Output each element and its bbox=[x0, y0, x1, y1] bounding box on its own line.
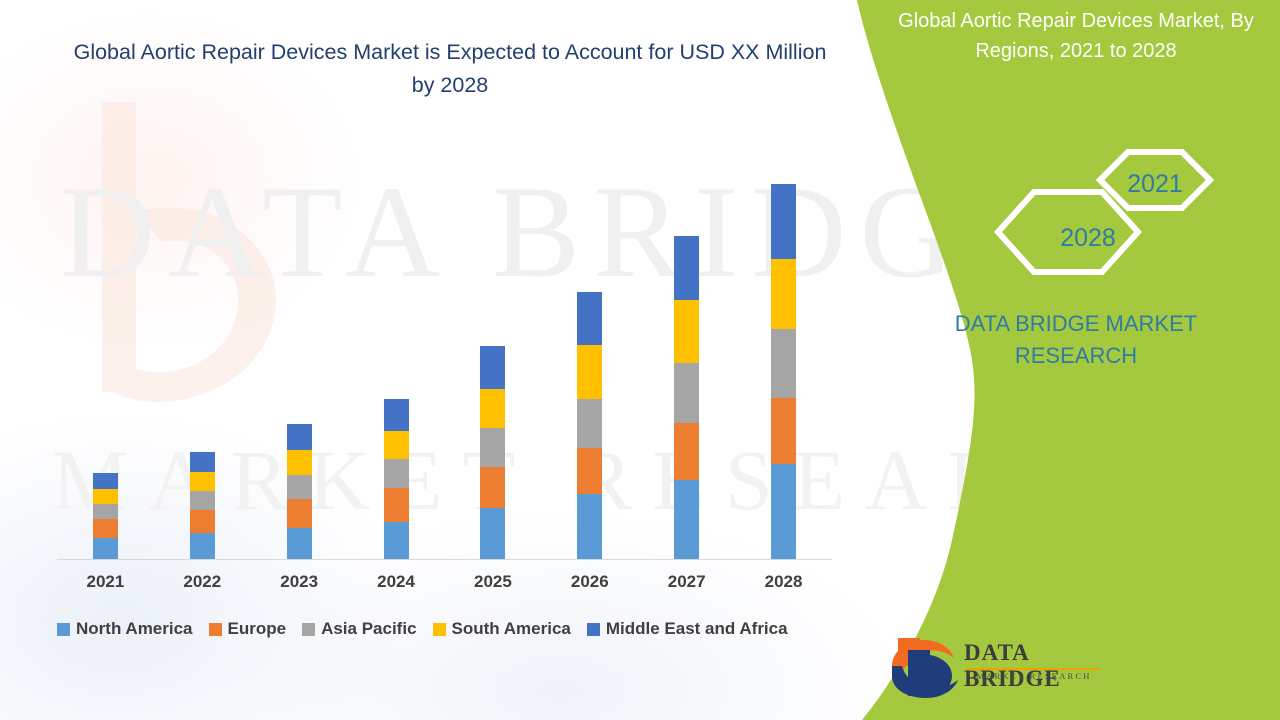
bar-segment[interactable] bbox=[384, 399, 409, 431]
panel-title: Global Aortic Repair Devices Market, By … bbox=[882, 6, 1270, 66]
bar-segment[interactable] bbox=[190, 533, 215, 559]
bar-segment[interactable] bbox=[674, 300, 699, 363]
bar-2023[interactable] bbox=[287, 424, 312, 559]
bar-segment[interactable] bbox=[93, 519, 118, 538]
bar-2022[interactable] bbox=[190, 452, 215, 559]
chart-plot-area bbox=[57, 120, 832, 559]
bar-segment[interactable] bbox=[674, 480, 699, 559]
x-axis-label-2025: 2025 bbox=[458, 572, 528, 592]
bar-segment[interactable] bbox=[384, 522, 409, 559]
bar-2027[interactable] bbox=[674, 236, 699, 559]
bar-segment[interactable] bbox=[577, 292, 602, 345]
bar-segment[interactable] bbox=[480, 467, 505, 508]
bar-segment[interactable] bbox=[771, 329, 796, 398]
logo-wordmark: DATA BRIDGE bbox=[964, 640, 1110, 692]
hexagon-2028-label: 2028 bbox=[1060, 224, 1116, 252]
bar-2025[interactable] bbox=[480, 346, 505, 559]
bar-segment[interactable] bbox=[480, 428, 505, 467]
bar-segment[interactable] bbox=[577, 448, 602, 494]
bar-segment[interactable] bbox=[93, 504, 118, 519]
legend-label: South America bbox=[452, 619, 571, 639]
legend-item[interactable]: North America bbox=[57, 619, 193, 639]
bar-segment[interactable] bbox=[287, 475, 312, 499]
x-axis-labels: 20212022202320242025202620272028 bbox=[57, 572, 832, 596]
panel-content: Global Aortic Repair Devices Market, By … bbox=[872, 0, 1280, 720]
panel-brand-line-2: RESEARCH bbox=[886, 340, 1266, 372]
chart-title: Global Aortic Repair Devices Market is E… bbox=[70, 36, 830, 102]
bar-segment[interactable] bbox=[577, 399, 602, 448]
x-axis-label-2027: 2027 bbox=[652, 572, 722, 592]
panel-brand-line-1: DATA BRIDGE MARKET bbox=[886, 308, 1266, 340]
logo-divider bbox=[966, 668, 1100, 670]
bar-segment[interactable] bbox=[287, 528, 312, 559]
x-axis-line bbox=[57, 559, 832, 560]
bar-2024[interactable] bbox=[384, 399, 409, 559]
bar-segment[interactable] bbox=[674, 363, 699, 423]
bar-segment[interactable] bbox=[93, 473, 118, 489]
bar-segment[interactable] bbox=[384, 459, 409, 488]
legend-label: Europe bbox=[228, 619, 287, 639]
legend-swatch-icon bbox=[302, 623, 315, 636]
data-bridge-b-mark-icon bbox=[890, 636, 960, 700]
stacked-bar-chart bbox=[57, 120, 832, 560]
hexagon-2021-label: 2021 bbox=[1127, 170, 1183, 198]
bar-segment[interactable] bbox=[384, 488, 409, 522]
bar-segment[interactable] bbox=[190, 510, 215, 533]
bar-segment[interactable] bbox=[93, 538, 118, 559]
bar-segment[interactable] bbox=[287, 450, 312, 475]
bar-segment[interactable] bbox=[287, 499, 312, 528]
bar-segment[interactable] bbox=[287, 424, 312, 450]
bar-2026[interactable] bbox=[577, 292, 602, 559]
hexagon-badges-group: 2028 2021 bbox=[872, 140, 1280, 280]
bar-segment[interactable] bbox=[577, 494, 602, 559]
x-axis-label-2026: 2026 bbox=[555, 572, 625, 592]
bar-segment[interactable] bbox=[771, 259, 796, 329]
data-bridge-logo: DATA BRIDGE MARKET RESEARCH bbox=[890, 634, 1110, 700]
bar-segment[interactable] bbox=[480, 346, 505, 389]
bar-segment[interactable] bbox=[190, 452, 215, 472]
legend-swatch-icon bbox=[587, 623, 600, 636]
bar-segment[interactable] bbox=[674, 423, 699, 480]
legend-item[interactable]: Europe bbox=[209, 619, 287, 639]
bar-segment[interactable] bbox=[93, 489, 118, 504]
legend-item[interactable]: Middle East and Africa bbox=[587, 619, 788, 639]
legend-label: Asia Pacific bbox=[321, 619, 416, 639]
bar-segment[interactable] bbox=[577, 345, 602, 399]
x-axis-label-2028: 2028 bbox=[749, 572, 819, 592]
bar-segment[interactable] bbox=[480, 389, 505, 428]
chart-legend: North AmericaEuropeAsia PacificSouth Ame… bbox=[57, 616, 832, 642]
bar-segment[interactable] bbox=[480, 508, 505, 559]
bar-segment[interactable] bbox=[190, 472, 215, 491]
bar-segment[interactable] bbox=[771, 398, 796, 464]
logo-subtitle: MARKET RESEARCH bbox=[966, 671, 1102, 681]
bar-segment[interactable] bbox=[771, 184, 796, 259]
bar-segment[interactable] bbox=[771, 464, 796, 559]
legend-swatch-icon bbox=[57, 623, 70, 636]
x-axis-label-2024: 2024 bbox=[361, 572, 431, 592]
legend-swatch-icon bbox=[433, 623, 446, 636]
bar-2028[interactable] bbox=[771, 184, 796, 559]
bar-segment[interactable] bbox=[384, 431, 409, 459]
infographic-canvas: DATA BRIDGE MARKET RESEARCH Global Aorti… bbox=[0, 0, 1280, 720]
x-axis-label-2021: 2021 bbox=[70, 572, 140, 592]
legend-label: North America bbox=[76, 619, 193, 639]
bar-2021[interactable] bbox=[93, 473, 118, 559]
bar-segment[interactable] bbox=[674, 236, 699, 300]
legend-swatch-icon bbox=[209, 623, 222, 636]
panel-brand-text: DATA BRIDGE MARKET RESEARCH bbox=[886, 308, 1266, 372]
legend-item[interactable]: South America bbox=[433, 619, 571, 639]
legend-label: Middle East and Africa bbox=[606, 619, 788, 639]
legend-item[interactable]: Asia Pacific bbox=[302, 619, 416, 639]
x-axis-label-2022: 2022 bbox=[167, 572, 237, 592]
x-axis-label-2023: 2023 bbox=[264, 572, 334, 592]
bar-segment[interactable] bbox=[190, 491, 215, 510]
